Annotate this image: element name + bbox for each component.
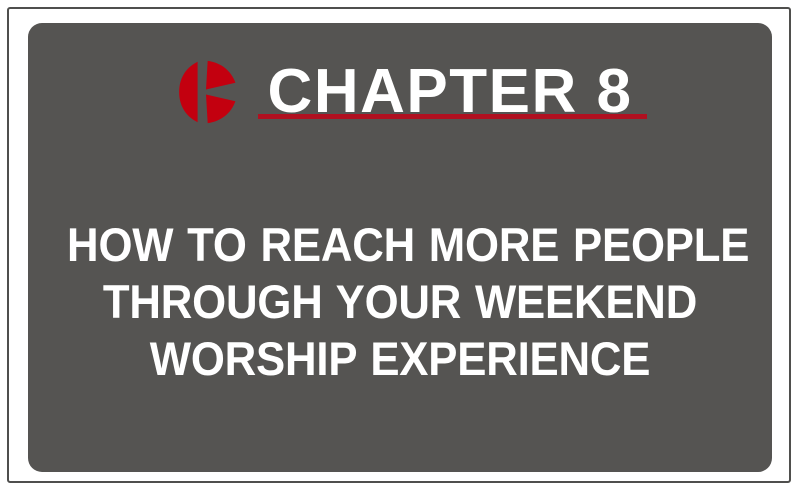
slide-root: CHAPTER 8 HOW TO REACH MORE PEOPLE THROU… [0,0,800,500]
title-line-3: WORSHIP EXPERIENCE [67,330,733,387]
page-title: HOW TO REACH MORE PEOPLE THROUGH YOUR WE… [67,216,733,387]
slide-content-panel: CHAPTER 8 HOW TO REACH MORE PEOPLE THROU… [28,23,772,472]
chapter-strikethrough-rule [258,114,647,119]
title-line-1: HOW TO REACH MORE PEOPLE [67,216,733,273]
chapter-header: CHAPTER 8 [164,46,637,138]
circle-play-segments-logo-icon [164,50,248,134]
title-line-2: THROUGH YOUR WEEKEND [67,273,733,330]
